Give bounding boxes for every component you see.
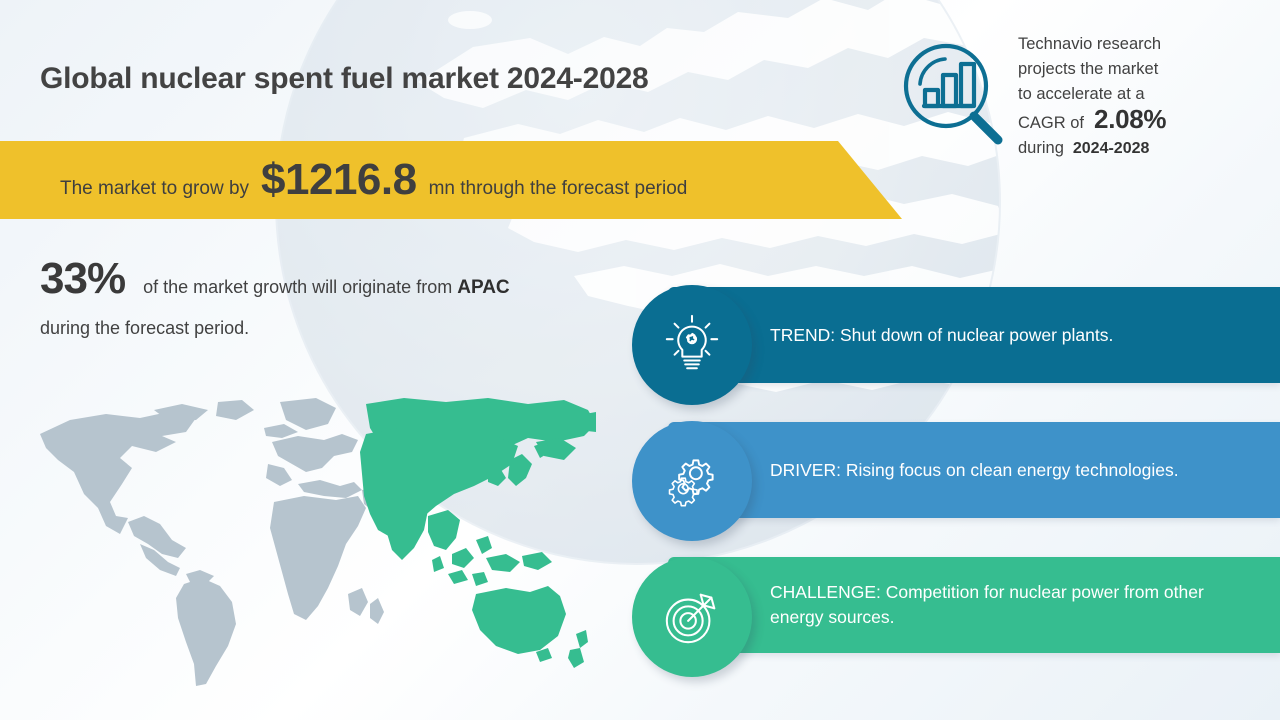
- cagr-label: CAGR of: [1018, 111, 1084, 136]
- lightbulb-gear-icon: [661, 314, 723, 376]
- banner-driver-icon-circle: [632, 421, 752, 541]
- map-base-continents: [40, 398, 394, 686]
- cagr-line-1: Technavio research: [1018, 32, 1276, 57]
- market-growth-band: The market to grow by $1216.8 mn through…: [0, 141, 902, 219]
- cagr-text-block: Technavio research projects the market t…: [1018, 32, 1276, 161]
- cagr-period-value: 2024-2028: [1064, 136, 1150, 161]
- growth-suffix-label: mn through the forecast period: [429, 178, 688, 200]
- cagr-line-2: projects the market: [1018, 57, 1276, 82]
- map-highlight-apac: [360, 398, 596, 668]
- banner-challenge[interactable]: CHALLENGE: Competition for nuclear power…: [668, 557, 1280, 653]
- banner-trend-icon-circle: [632, 285, 752, 405]
- target-arrow-icon: [661, 586, 723, 648]
- region-stat-line-1: 33% of the market growth will originate …: [40, 254, 630, 304]
- cagr-value: 2.08%: [1084, 107, 1166, 132]
- region-percent-value: 33%: [40, 254, 125, 304]
- region-stat-text: of the market growth will originate from…: [125, 277, 510, 299]
- banner-challenge-label: CHALLENGE: Competition for nuclear power…: [668, 580, 1280, 630]
- region-growth-statement: 33% of the market growth will originate …: [40, 254, 630, 339]
- cagr-during-label: during: [1018, 136, 1064, 161]
- banner-driver[interactable]: DRIVER: Rising focus on clean energy tec…: [668, 422, 1280, 518]
- page-title: Global nuclear spent fuel market 2024-20…: [40, 62, 649, 96]
- region-stat-text-plain: of the market growth will originate from: [143, 277, 452, 297]
- market-growth-band-content: The market to grow by $1216.8 mn through…: [0, 155, 687, 205]
- growth-amount-value: $1216.8: [249, 155, 429, 205]
- cagr-value-row: CAGR of 2.08%: [1018, 107, 1276, 136]
- growth-prefix-label: The market to grow by: [60, 178, 249, 200]
- banner-trend[interactable]: TREND: Shut down of nuclear power plants…: [668, 287, 1280, 383]
- world-map: [36, 398, 596, 688]
- gears-icon: [661, 450, 723, 512]
- banner-challenge-icon-circle: [632, 557, 752, 677]
- cagr-period-row: during 2024-2028: [1018, 136, 1276, 161]
- cagr-block: Technavio research projects the market t…: [893, 28, 1273, 170]
- magnifier-bar-chart-icon: [898, 42, 1010, 146]
- region-stat-line-2: during the forecast period.: [40, 318, 630, 339]
- region-name: APAC: [457, 277, 509, 298]
